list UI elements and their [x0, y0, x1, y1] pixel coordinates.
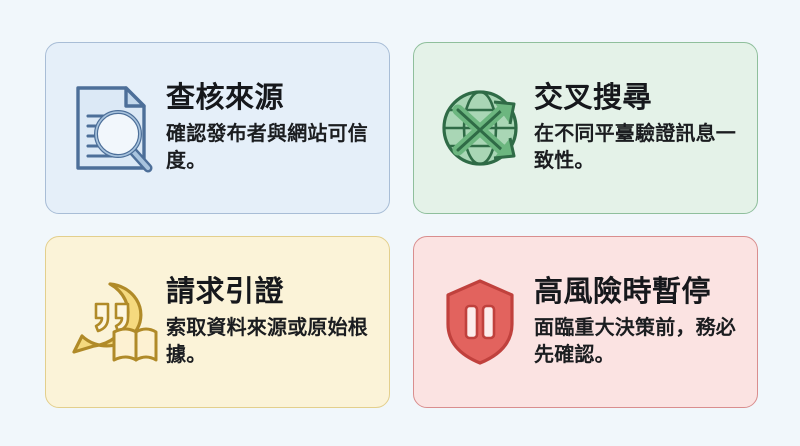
card-text-column: 交叉搜尋 在不同平臺驗證訊息一致性。 [532, 82, 745, 174]
card-title: 高風險時暫停 [534, 276, 745, 308]
card-grid: 查核來源 確認發布者與網站可信度。 [45, 42, 755, 408]
quote-bubble-book-icon [60, 267, 164, 377]
card-description: 確認發布者與網站可信度。 [166, 121, 377, 174]
document-magnifier-icon [60, 73, 164, 183]
card-title: 請求引證 [166, 276, 377, 308]
card-text-column: 高風險時暫停 面臨重大決策前，務必先確認。 [532, 276, 745, 368]
card-text-column: 請求引證 索取資料來源或原始根據。 [164, 276, 377, 368]
card-description: 索取資料來源或原始根據。 [166, 315, 377, 368]
globe-arrows-icon [428, 73, 532, 183]
card-description: 在不同平臺驗證訊息一致性。 [534, 121, 745, 174]
card-title: 交叉搜尋 [534, 82, 745, 114]
card-board: 查核來源 確認發布者與網站可信度。 [0, 0, 800, 446]
card-text-column: 查核來源 確認發布者與網站可信度。 [164, 82, 377, 174]
card-description: 面臨重大決策前，務必先確認。 [534, 315, 745, 368]
card-request-citation[interactable]: 請求引證 索取資料來源或原始根據。 [45, 236, 390, 408]
card-cross-search[interactable]: 交叉搜尋 在不同平臺驗證訊息一致性。 [413, 42, 758, 214]
shield-pause-icon [428, 267, 532, 377]
card-verify-source[interactable]: 查核來源 確認發布者與網站可信度。 [45, 42, 390, 214]
card-title: 查核來源 [166, 82, 377, 114]
card-pause-high-risk[interactable]: 高風險時暫停 面臨重大決策前，務必先確認。 [413, 236, 758, 408]
